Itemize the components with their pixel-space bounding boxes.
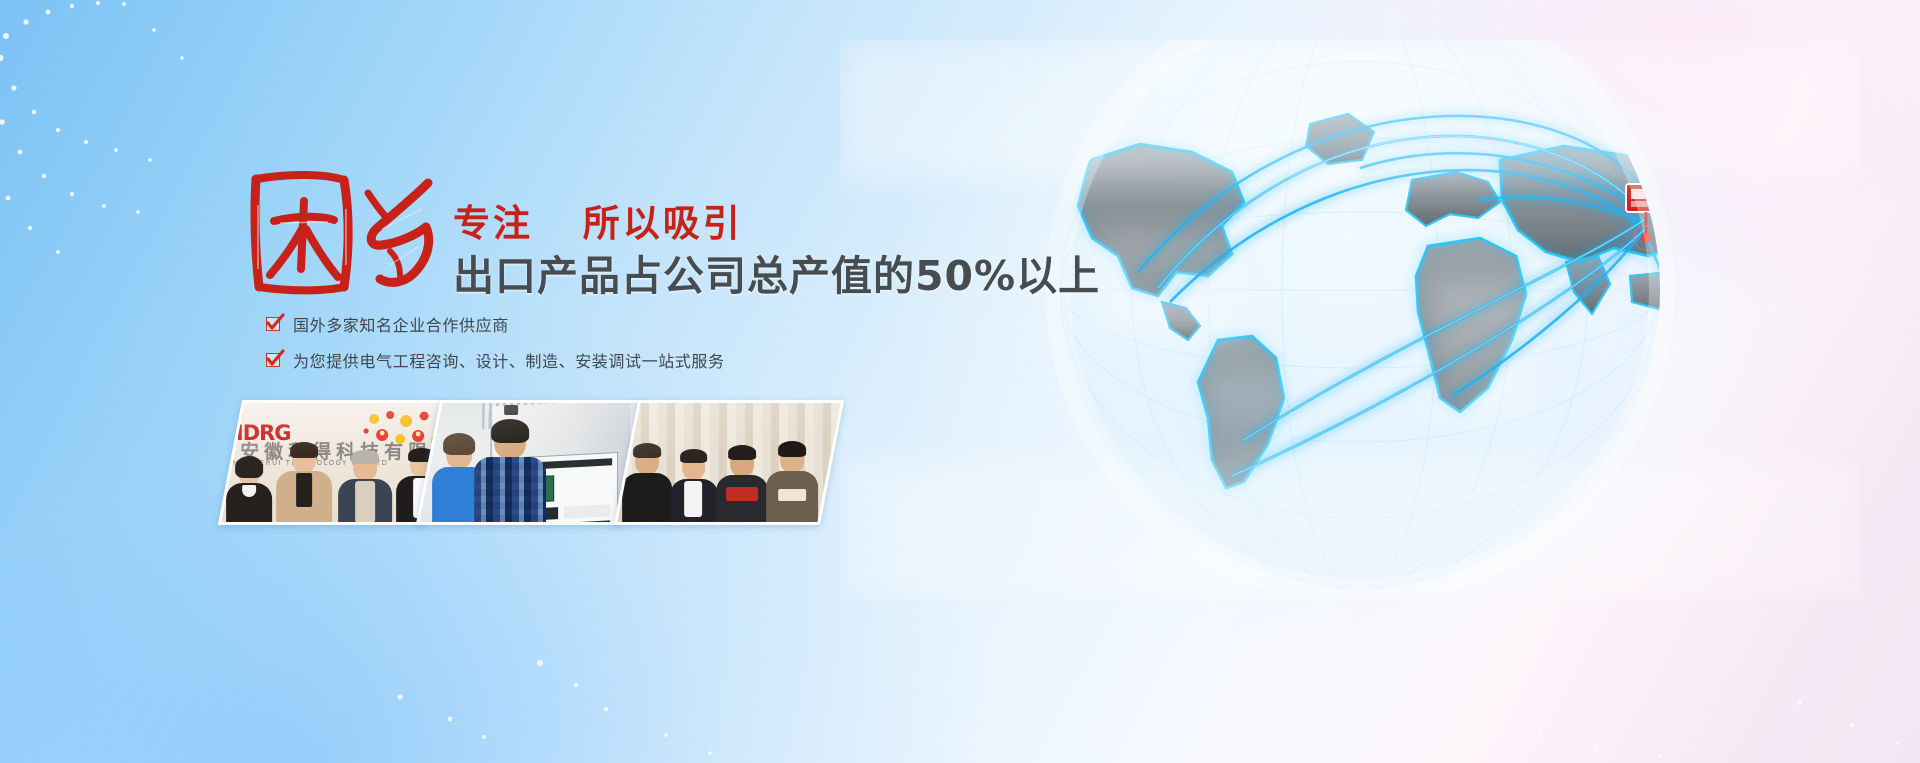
- bullet-text-1: 国外多家知名企业合作供应商: [293, 312, 509, 336]
- photo-group-partners[interactable]: HDRG 安徽和得科技有限 ANHUI HERUI TECHNOLOGY CO.…: [218, 400, 448, 525]
- checkbox-checked-icon: [266, 353, 280, 367]
- bullet-item-1: 国外多家知名企业合作供应商: [266, 312, 725, 336]
- bullet-item-2: 为您提供电气工程咨询、设计、制造、安装调试一站式服务: [266, 348, 725, 372]
- photo-team-portrait[interactable]: [614, 400, 844, 525]
- photo-3-person-4: [766, 445, 818, 525]
- checkbox-checked-icon: [266, 317, 280, 331]
- headline-red-part1: 专注: [453, 202, 533, 245]
- photo-strip: HDRG 安徽和得科技有限 ANHUI HERUI TECHNOLOGY CO.…: [228, 400, 848, 525]
- photo-2-tool: [504, 405, 518, 415]
- headline-dark-line: 出口产品占公司总产值的50%以上: [453, 255, 1100, 298]
- photo-3-person-3: [716, 447, 768, 525]
- headline-red-part2: 所以吸引: [583, 202, 743, 245]
- world-globe-graphic: [840, 40, 1860, 600]
- headline-red-line: 专注 所以吸引: [453, 205, 1100, 242]
- bullet-text-2: 为您提供电气工程咨询、设计、制造、安装调试一站式服务: [293, 348, 725, 372]
- photo-1-person-1: [226, 459, 272, 525]
- photo-3-content: [614, 400, 844, 525]
- photo-1-person-2: [276, 445, 332, 525]
- photo-1-content: HDRG 安徽和得科技有限 ANHUI HERUI TECHNOLOGY CO.…: [218, 400, 448, 525]
- banner-content: 专注 所以吸引 出口产品占公司总产值的50%以上 国外多家知名企业合作供应商: [0, 0, 960, 763]
- headline-text-block: 专注 所以吸引 出口产品占公司总产值的50%以上: [453, 165, 1100, 298]
- photo-1-person-3: [338, 453, 392, 525]
- photo-3-person-2: [670, 449, 718, 525]
- feature-bullet-list: 国外多家知名企业合作供应商 为您提供电气工程咨询、设计、制造、安装调试一站式服务: [266, 312, 725, 384]
- globe-marker-china: [1626, 184, 1666, 250]
- photo-engineers-cabinet[interactable]: [416, 400, 646, 525]
- photo-3-person-1: [622, 445, 672, 525]
- hero-banner: 专注 所以吸引 出口产品占公司总产值的50%以上 国外多家知名企业合作供应商: [0, 0, 1920, 763]
- photo-2-content: [416, 400, 646, 525]
- brush-calligraphy-yinwei: [240, 165, 445, 295]
- headline-row: 专注 所以吸引 出口产品占公司总产值的50%以上: [240, 165, 1100, 298]
- dotted-arc-decoration-bottomright: [1500, 543, 1920, 763]
- photo-2-technician-2: [474, 421, 546, 525]
